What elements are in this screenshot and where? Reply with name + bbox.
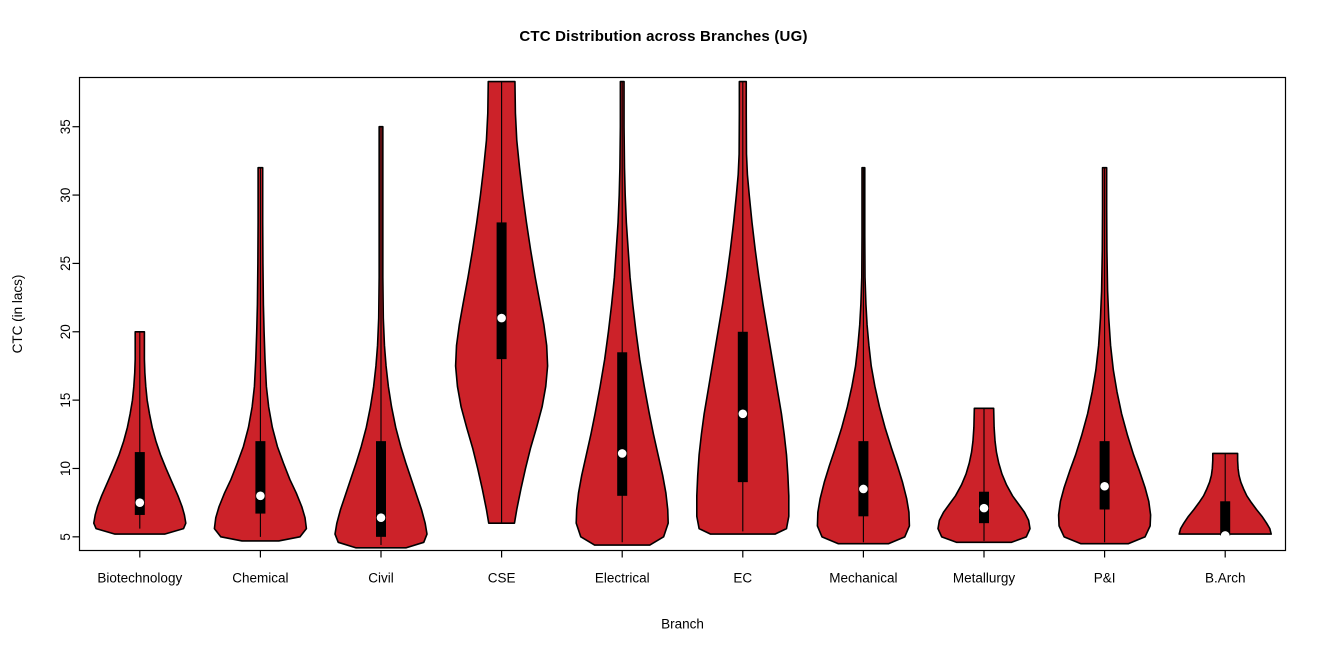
y-axis-tick-label: 25 bbox=[58, 256, 73, 271]
iqr-box bbox=[617, 352, 627, 496]
violin-chemical[interactable] bbox=[214, 168, 306, 541]
violin-biotechnology[interactable] bbox=[94, 332, 186, 534]
median-marker bbox=[497, 314, 506, 323]
y-axis-tick-label: 10 bbox=[58, 461, 73, 476]
iqr-box bbox=[1220, 501, 1230, 535]
violin-plot-figure: CTC Distribution across Branches (UG) 51… bbox=[0, 0, 1327, 653]
y-axis-tick-label: 15 bbox=[58, 393, 73, 408]
iqr-box bbox=[1100, 441, 1110, 509]
x-axis-tick-label-p-i: P&I bbox=[1094, 571, 1116, 586]
median-marker bbox=[739, 409, 748, 418]
median-marker bbox=[377, 513, 386, 522]
violin-electrical[interactable] bbox=[576, 82, 668, 545]
median-marker bbox=[1221, 531, 1230, 540]
y-axis-tick-label: 20 bbox=[58, 324, 73, 339]
violin-mechanical[interactable] bbox=[817, 168, 909, 544]
median-marker bbox=[136, 498, 145, 507]
x-axis-tick-label-cse: CSE bbox=[488, 571, 516, 586]
median-marker bbox=[859, 485, 868, 494]
violin-metallurgy[interactable] bbox=[938, 408, 1030, 542]
median-marker bbox=[618, 449, 627, 458]
median-marker bbox=[256, 492, 265, 501]
chart-canvas: 5101520253035CTC (in lacs)BiotechnologyC… bbox=[0, 0, 1327, 653]
y-axis-title: CTC (in lacs) bbox=[10, 275, 25, 354]
x-axis-tick-label-chemical: Chemical bbox=[232, 571, 288, 586]
iqr-box bbox=[858, 441, 868, 516]
x-axis-tick-label-electrical: Electrical bbox=[595, 571, 650, 586]
median-marker bbox=[980, 504, 989, 513]
median-marker bbox=[1100, 482, 1109, 491]
violin-cse[interactable] bbox=[456, 82, 548, 524]
violin-ec[interactable] bbox=[697, 82, 789, 534]
x-axis-tick-label-biotechnology: Biotechnology bbox=[97, 571, 182, 586]
x-axis-tick-label-b-arch: B.Arch bbox=[1205, 571, 1246, 586]
violin-civil[interactable] bbox=[335, 127, 427, 548]
y-axis-tick-label: 30 bbox=[58, 188, 73, 203]
x-axis-tick-label-ec: EC bbox=[733, 571, 752, 586]
x-axis-tick-label-mechanical: Mechanical bbox=[829, 571, 897, 586]
iqr-box bbox=[255, 441, 265, 513]
y-axis-tick-label: 5 bbox=[58, 533, 73, 541]
x-axis-title: Branch bbox=[661, 617, 704, 632]
x-axis-tick-label-metallurgy: Metallurgy bbox=[953, 571, 1016, 586]
violin-b-arch[interactable] bbox=[1179, 453, 1271, 539]
x-axis-tick-label-civil: Civil bbox=[368, 571, 394, 586]
iqr-box bbox=[376, 441, 386, 537]
violin-p-i[interactable] bbox=[1059, 168, 1151, 544]
iqr-box bbox=[738, 332, 748, 482]
iqr-box bbox=[497, 222, 507, 359]
y-axis-tick-label: 35 bbox=[58, 119, 73, 134]
